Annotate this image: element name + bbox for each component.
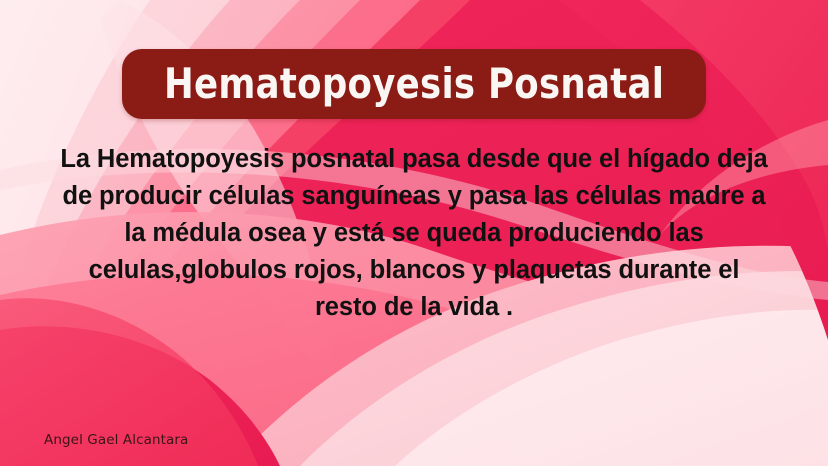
page-title: Hematopoyesis Posnatal xyxy=(164,63,664,105)
body-paragraph: La Hematopoyesis posnatal pasa desde que… xyxy=(56,141,772,326)
slide-content: Hematopoyesis Posnatal La Hematopoyesis … xyxy=(0,0,828,466)
body-text-block: La Hematopoyesis posnatal pasa desde que… xyxy=(56,141,772,326)
title-banner: Hematopoyesis Posnatal xyxy=(122,49,706,119)
author-credit: Angel Gael Alcantara xyxy=(44,434,188,448)
slide-canvas: Hematopoyesis Posnatal La Hematopoyesis … xyxy=(0,0,828,466)
